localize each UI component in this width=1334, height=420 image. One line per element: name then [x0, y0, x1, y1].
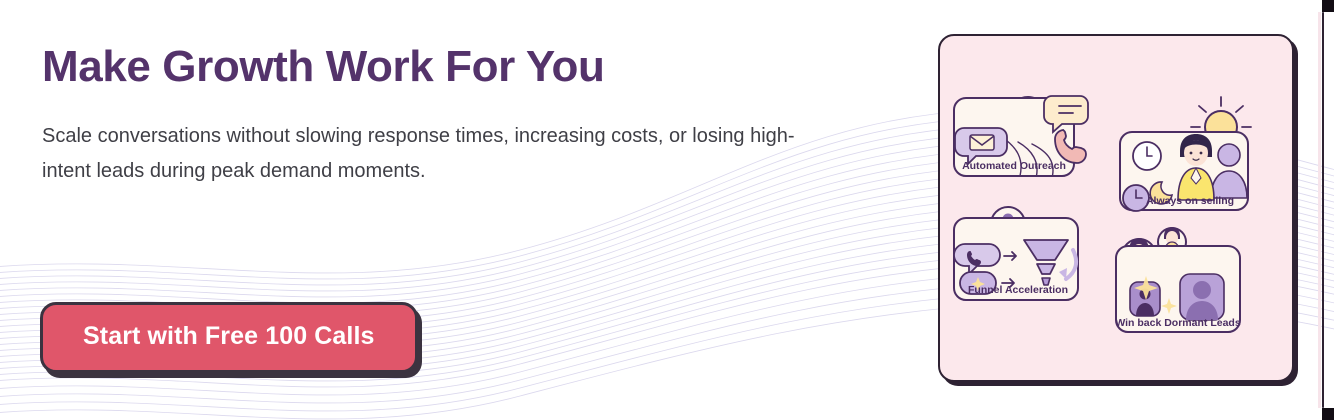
card-label-automated-outreach: Automated Outreach — [962, 160, 1066, 172]
start-free-calls-button[interactable]: Start with Free 100 Calls — [40, 302, 418, 373]
clock-icon — [1133, 142, 1161, 170]
card-label-always-on-selling: Always on selling — [1146, 195, 1234, 207]
corner-artifact-bottom-right — [1322, 408, 1334, 420]
cta-container: Start with Free 100 Calls — [40, 302, 418, 373]
illustration-card-always-on-selling: Always on selling — [1120, 97, 1251, 211]
feature-illustration: Automated Outreach — [940, 36, 1292, 380]
hero-banner: Make Growth Work For You Scale conversat… — [0, 0, 1334, 420]
card-label-win-back-dormant-leads: Win back Dormant Leads — [1115, 317, 1241, 329]
corner-artifact-top-right — [1322, 0, 1334, 12]
illustration-card-automated-outreach: Automated Outreach — [954, 96, 1088, 178]
page-edge-highlight — [1318, 12, 1321, 408]
page-title: Make Growth Work For You — [42, 40, 872, 94]
illustration-card-win-back-dormant-leads: Win back Dormant Leads — [1115, 227, 1241, 332]
feature-illustration-panel: Automated Outreach — [938, 34, 1294, 382]
card-label-funnel-acceleration: Funnel Acceleration — [968, 284, 1068, 296]
hero-text-column: Make Growth Work For You Scale conversat… — [42, 40, 872, 189]
page-edge-line — [1322, 12, 1324, 408]
page-subtitle: Scale conversations without slowing resp… — [42, 119, 832, 189]
person-tile-icon — [1180, 274, 1224, 320]
illustration-card-funnel-acceleration: Funnel Acceleration — [954, 207, 1078, 300]
